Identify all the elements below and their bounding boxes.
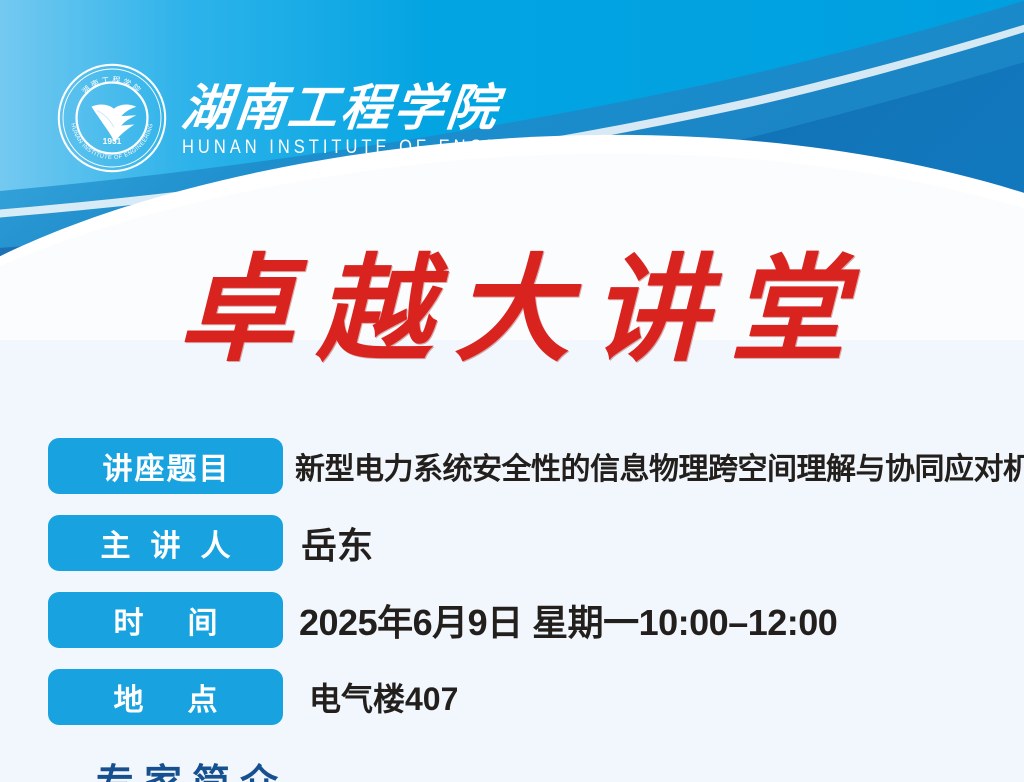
university-seal-icon: 1951 湖南工程学院 HUNAN INSTITUTE OF ENGINEERI… <box>56 62 168 174</box>
info-row-datetime: 时间 2025年6月9日 星期一10:00–12:00 <box>0 592 1024 648</box>
institution-logo: 1951 湖南工程学院 HUNAN INSTITUTE OF ENGINEERI… <box>56 62 598 174</box>
info-row-lecture-topic: 讲座题目 新型电力系统安全性的信息物理跨空间理解与协同应对机制 <box>0 438 1024 494</box>
info-row-speaker: 主讲人 岳东 <box>0 515 1024 571</box>
value-lecture-topic: 新型电力系统安全性的信息物理跨空间理解与协同应对机制 <box>295 444 1024 488</box>
svg-text:1951: 1951 <box>103 136 122 146</box>
value-location: 电气楼407 <box>309 674 1024 720</box>
section-heading-expert-bio: 专家简介 <box>96 752 288 782</box>
value-datetime: 2025年6月9日 星期一10:00–12:00 <box>299 594 1024 646</box>
poster-main-title: 卓越大讲堂 <box>0 252 1024 368</box>
lecture-poster: 1951 湖南工程学院 HUNAN INSTITUTE OF ENGINEERI… <box>0 0 1024 782</box>
label-speaker: 主讲人 <box>48 515 283 571</box>
svg-text:湖南工程学院: 湖南工程学院 <box>80 75 144 96</box>
institution-name-en: HUNAN INSTITUTE OF ENGINEERING <box>182 136 598 158</box>
lecture-info-list: 讲座题目 新型电力系统安全性的信息物理跨空间理解与协同应对机制 主讲人 岳东 时… <box>0 438 1024 746</box>
label-location: 地点 <box>48 669 283 725</box>
label-datetime: 时间 <box>48 592 283 648</box>
institution-wordmark: 湖南工程学院 HUNAN INSTITUTE OF ENGINEERING <box>182 79 598 157</box>
institution-name-cn: 湖南工程学院 <box>179 81 601 134</box>
info-row-location: 地点 电气楼407 <box>0 669 1024 725</box>
value-speaker: 岳东 <box>301 517 1024 569</box>
label-lecture-topic: 讲座题目 <box>48 438 283 494</box>
